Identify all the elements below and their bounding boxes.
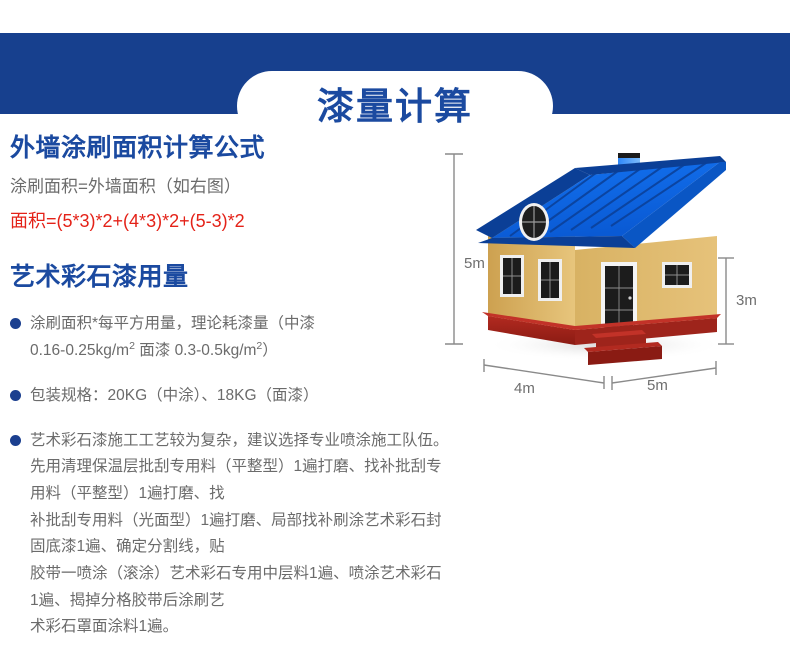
door-knob bbox=[628, 296, 631, 299]
bullet-line: 术彩石罩面涂料1遍。 bbox=[30, 614, 450, 641]
formula-description: 涂刷面积=外墙面积（如右图） bbox=[10, 173, 450, 200]
page-title: 漆量计算 bbox=[317, 88, 473, 125]
content-column: 外墙涂刷面积计算公式 涂刷面积=外墙面积（如右图） 面积=(5*3)*2+(4*… bbox=[10, 132, 450, 659]
bullet-line: 艺术彩石漆施工工艺较为复杂，建议选择专业喷涂施工队伍。 bbox=[30, 428, 450, 455]
bullet-text: 包装规格：20KG（中涂）、18KG（面漆） bbox=[30, 383, 319, 410]
bullet-line: 涂刷面积*每平方用量，理论耗漆量（中漆 bbox=[30, 311, 315, 338]
header-banner: 漆量计算 bbox=[0, 33, 790, 114]
list-item: 包装规格：20KG（中涂）、18KG（面漆） bbox=[10, 383, 450, 410]
bullet-line: 胶带一喷涂（滚涂）艺术彩石专用中层料1遍、喷涂艺术彩石1遍、揭掉分格胶带后涂刷艺 bbox=[30, 561, 450, 614]
bullet-line-part: ） bbox=[262, 343, 278, 360]
house-illustration: 5m 3m 4m 5m bbox=[430, 140, 790, 402]
dimension-label-3m-height: 3m bbox=[736, 292, 757, 309]
bullet-text: 涂刷面积*每平方用量，理论耗漆量（中漆 0.16-0.25kg/m2 面漆 0.… bbox=[30, 311, 315, 365]
bullet-line-part: 0.16-0.25kg/m bbox=[30, 343, 129, 360]
list-item: 涂刷面积*每平方用量，理论耗漆量（中漆 0.16-0.25kg/m2 面漆 0.… bbox=[10, 311, 450, 365]
dimension-height-right bbox=[718, 258, 734, 344]
bullet-dot-icon bbox=[10, 318, 21, 329]
bullet-line: 先用清理保温层批刮专用料（平整型）1遍打磨、找补批刮专用料（平整型）1遍打磨、找 bbox=[30, 454, 450, 507]
list-item: 艺术彩石漆施工工艺较为复杂，建议选择专业喷涂施工队伍。 先用清理保温层批刮专用料… bbox=[10, 428, 450, 641]
section-heading-usage: 艺术彩石漆用量 bbox=[10, 261, 450, 292]
dimension-height-left bbox=[445, 154, 463, 344]
bullet-text: 艺术彩石漆施工工艺较为复杂，建议选择专业喷涂施工队伍。 先用清理保温层批刮专用料… bbox=[30, 428, 450, 641]
area-formula: 面积=(5*3)*2+(4*3)*2+(5-3)*2 bbox=[10, 208, 450, 235]
round-window bbox=[519, 203, 549, 241]
section-heading-formula: 外墙涂刷面积计算公式 bbox=[10, 132, 450, 163]
bullet-dot-icon bbox=[10, 435, 21, 446]
window-gable-left bbox=[500, 255, 524, 297]
bullet-line-part: 面漆 0.3-0.5kg/m bbox=[135, 343, 256, 360]
usage-bullet-list: 涂刷面积*每平方用量，理论耗漆量（中漆 0.16-0.25kg/m2 面漆 0.… bbox=[10, 311, 450, 641]
bullet-line: 补批刮专用料（光面型）1遍打磨、局部找补刷涂艺术彩石封固底漆1遍、确定分割线，贴 bbox=[30, 508, 450, 561]
window-side bbox=[662, 262, 692, 288]
dimension-label-5m-width: 5m bbox=[647, 377, 668, 394]
window-gable-right bbox=[538, 259, 562, 301]
bullet-dot-icon bbox=[10, 390, 21, 401]
dimension-label-5m-height: 5m bbox=[464, 255, 485, 272]
bullet-line: 包装规格：20KG（中涂）、18KG（面漆） bbox=[30, 383, 319, 410]
dimension-label-4m-width: 4m bbox=[514, 380, 535, 397]
header-title-pill: 漆量计算 bbox=[237, 71, 553, 141]
bullet-line: 0.16-0.25kg/m2 面漆 0.3-0.5kg/m2） bbox=[30, 337, 315, 365]
wall-side bbox=[575, 236, 717, 330]
